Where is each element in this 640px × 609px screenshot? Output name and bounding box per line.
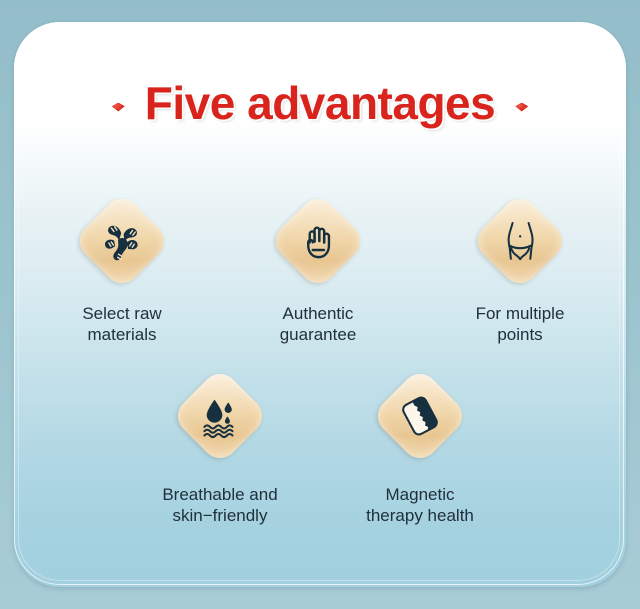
diamond-bullet-right-icon	[515, 101, 528, 114]
feature-breathable-skin-friendly[interactable]: Breathable and skin−friendly	[120, 368, 320, 527]
page-title-text: Five advantages	[145, 80, 495, 126]
feature-label: Breathable and skin−friendly	[162, 484, 277, 527]
diamond-bullet-left-icon	[112, 101, 125, 114]
feature-tile	[372, 368, 468, 464]
feature-for-multiple-points[interactable]: For multiple points	[422, 193, 618, 346]
feature-tile	[172, 368, 268, 464]
poster-canvas: Five advantages	[0, 0, 640, 609]
feature-label: Select raw materials	[82, 303, 161, 346]
feature-authentic-guarantee[interactable]: Authentic guarantee	[220, 193, 416, 346]
feature-tile	[472, 193, 568, 289]
feature-row-top: Select raw materials	[0, 193, 640, 346]
feature-tile	[270, 193, 366, 289]
feature-tile	[74, 193, 170, 289]
feature-label: For multiple points	[476, 303, 565, 346]
water-droplet-waves-icon	[191, 387, 249, 445]
waist-body-icon	[491, 212, 549, 270]
open-hand-icon	[289, 212, 347, 270]
feature-row-bottom: Breathable and skin−friendly Magnetic th…	[0, 368, 640, 527]
feature-label: Authentic guarantee	[280, 303, 357, 346]
feature-magnetic-therapy-health[interactable]: Magnetic therapy health	[320, 368, 520, 527]
feature-label: Magnetic therapy health	[366, 484, 474, 527]
magnetic-patch-icon	[391, 387, 449, 445]
page-title: Five advantages	[0, 80, 640, 126]
ginger-root-icon	[93, 212, 151, 270]
feature-select-raw-materials[interactable]: Select raw materials	[24, 193, 220, 346]
